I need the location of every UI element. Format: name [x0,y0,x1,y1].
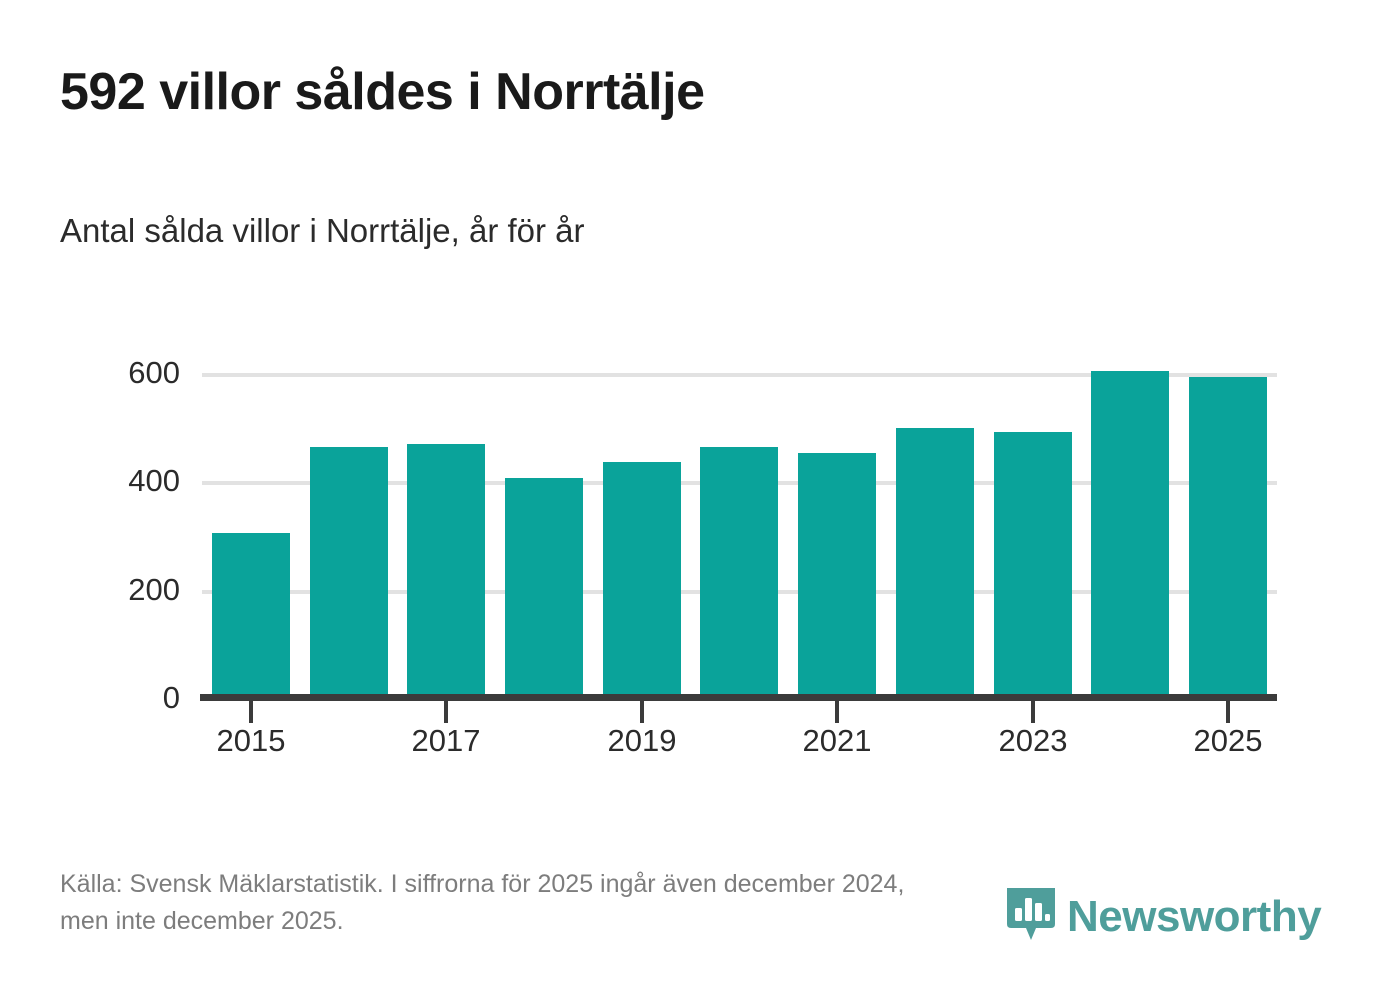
x-tick-label-2017: 2017 [412,723,481,759]
plot-area [202,362,1277,698]
y-axis-labels: 0200400600 [60,362,180,698]
x-tick-label-2023: 2023 [999,723,1068,759]
bar-2018[interactable] [505,478,583,698]
bar-2020[interactable] [700,447,778,698]
x-tick-mark-2023 [1031,701,1035,723]
x-tick-mark-2021 [835,701,839,723]
x-tick-label-2015: 2015 [217,723,286,759]
x-tick-label-2021: 2021 [803,723,872,759]
bar-series [202,362,1277,698]
bar-2021[interactable] [798,453,876,698]
x-axis-line [200,694,1277,701]
bar-chart: 0200400600 201520172019202120232025 [0,0,1382,999]
bar-2023[interactable] [994,432,1072,698]
bar-2022[interactable] [896,428,974,698]
y-tick-label-400: 400 [60,463,180,499]
x-tick-label-2025: 2025 [1194,723,1263,759]
x-tick-mark-2017 [444,701,448,723]
bar-2016[interactable] [310,447,388,698]
bar-2019[interactable] [603,462,681,698]
newsworthy-logo: Newsworthy [1004,886,1321,948]
x-tick-label-2019: 2019 [608,723,677,759]
bar-2024[interactable] [1091,371,1169,698]
bar-2015[interactable] [212,533,290,698]
bar-2017[interactable] [407,444,485,698]
y-tick-label-0: 0 [60,680,180,716]
bar-2025[interactable] [1189,377,1267,698]
x-tick-mark-2015 [249,701,253,723]
y-tick-label-600: 600 [60,355,180,391]
newsworthy-wordmark: Newsworthy [1067,895,1321,939]
chart-page: 592 villor såldes i Norrtälje Antal såld… [0,0,1382,999]
y-tick-label-200: 200 [60,572,180,608]
x-tick-mark-2019 [640,701,644,723]
newsworthy-bars-bubble-icon [1004,886,1058,948]
x-tick-mark-2025 [1226,701,1230,723]
